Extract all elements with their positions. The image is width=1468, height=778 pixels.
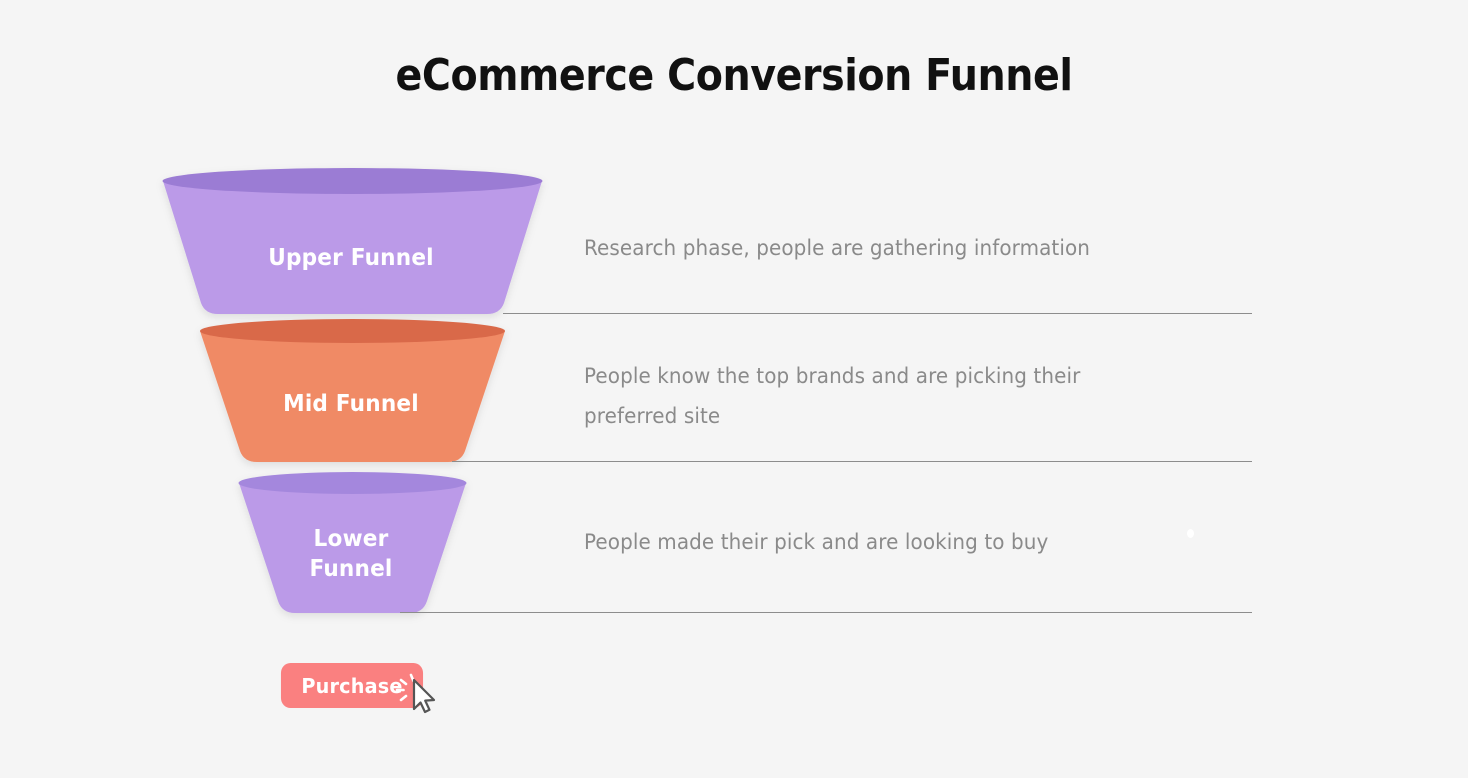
row-divider-1 bbox=[503, 313, 1252, 314]
funnel-segment-upper-rim bbox=[163, 168, 543, 194]
funnel-segment-mid-rim bbox=[200, 319, 505, 343]
funnel-diagram-canvas: eCommerce Conversion Funnel Upper Funnel… bbox=[0, 0, 1468, 778]
funnel-stage-label-upper: Upper Funnel bbox=[182, 243, 520, 273]
stray-dot bbox=[1187, 529, 1194, 538]
row-divider-2 bbox=[452, 461, 1252, 462]
funnel-description-upper: Research phase, people are gathering inf… bbox=[584, 228, 1249, 268]
funnel-stage-label-lower: Lower Funnel bbox=[182, 524, 520, 584]
purchase-button[interactable]: Purchase bbox=[281, 663, 423, 708]
funnel-description-mid: People know the top brands and are picki… bbox=[584, 356, 1192, 436]
funnel-segment-lower-rim bbox=[239, 472, 467, 494]
funnel-description-lower: People made their pick and are looking t… bbox=[584, 522, 1249, 562]
row-divider-3 bbox=[400, 612, 1252, 613]
page-title: eCommerce Conversion Funnel bbox=[73, 50, 1394, 101]
funnel-stage-label-mid: Mid Funnel bbox=[182, 389, 520, 419]
funnel-segment-upper[interactable] bbox=[163, 168, 543, 314]
